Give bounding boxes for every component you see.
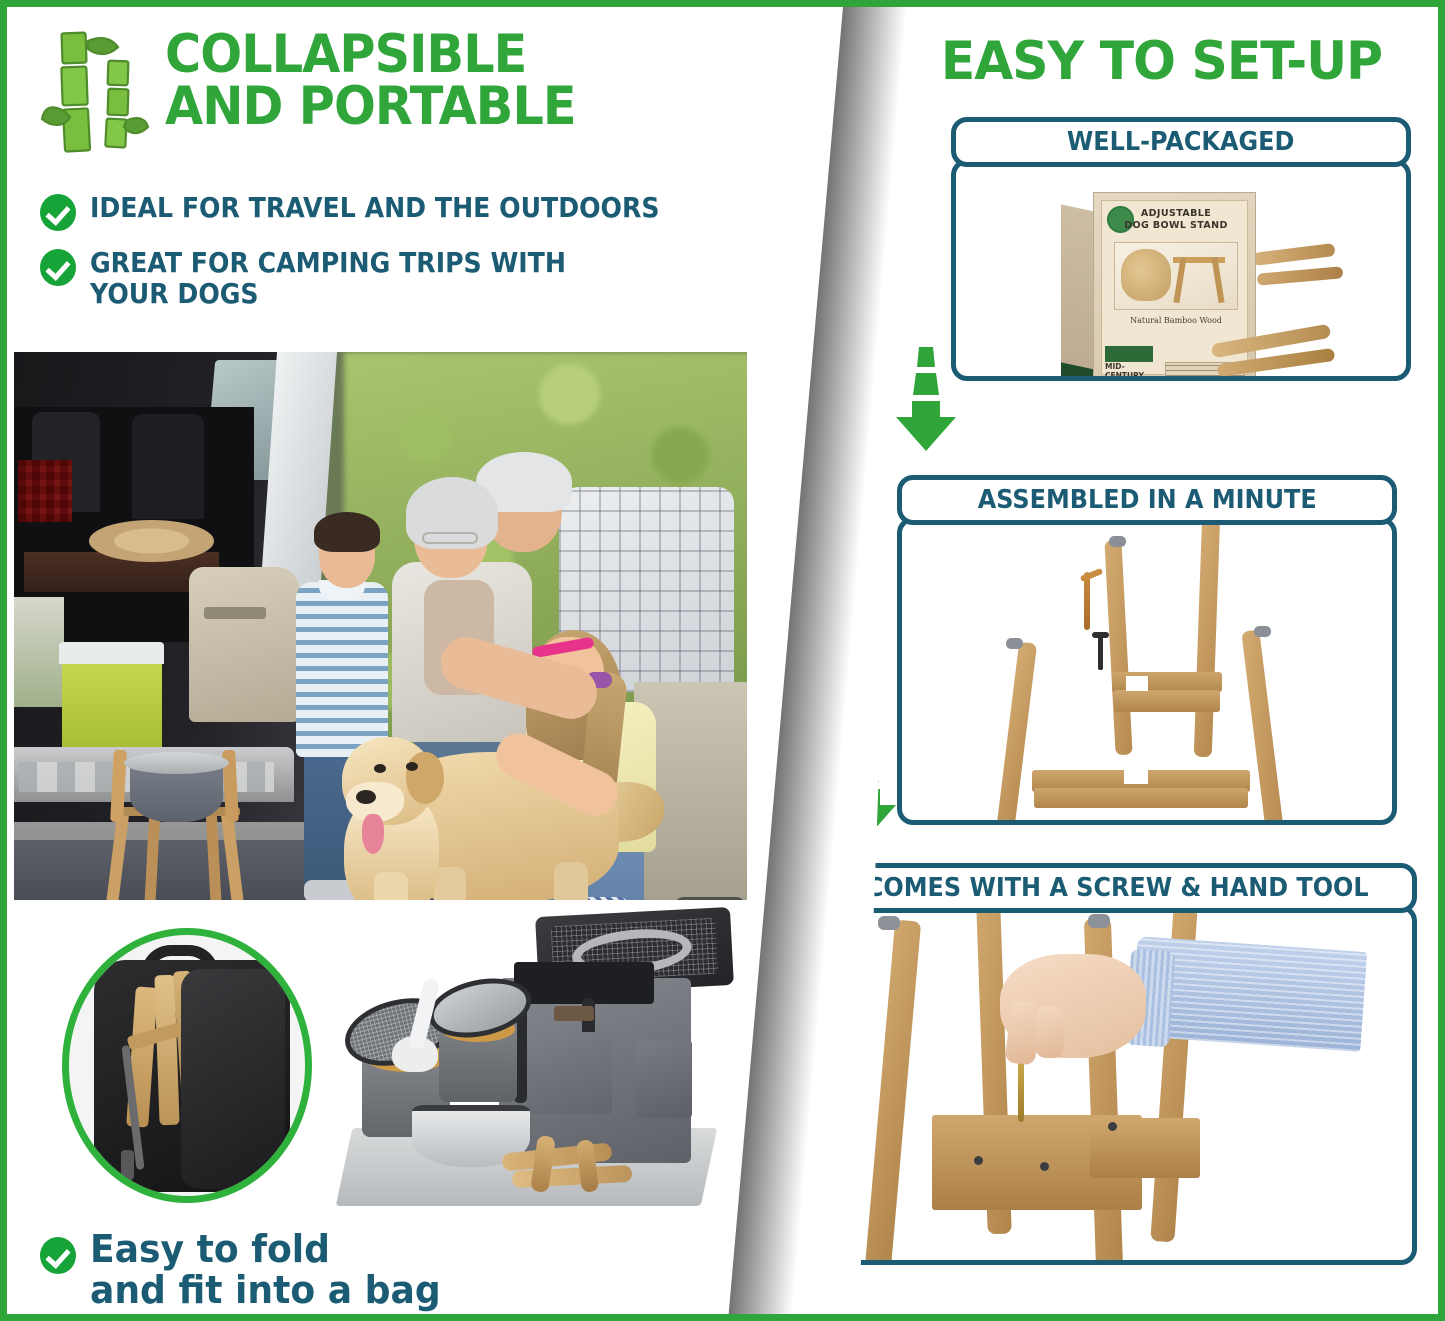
step-assembled: ASSEMBLED IN A MINUTE [897, 475, 1397, 825]
package-spine [1061, 204, 1095, 381]
package-subtitle: Natural Bamboo Wood [1109, 316, 1243, 325]
screw-head-icon [974, 1156, 983, 1165]
leg-cap [1109, 536, 1126, 547]
screw-icon [1098, 634, 1103, 670]
dog-leg [554, 862, 588, 900]
bamboo-part [1257, 266, 1344, 285]
dog-bowl-rim [124, 752, 229, 774]
dog-ear [406, 752, 444, 804]
assembly-illustration [902, 522, 1392, 820]
package-dog [1121, 249, 1171, 301]
dog-eye [374, 764, 386, 773]
zipper-pull [121, 1150, 134, 1180]
tote-front-pocket [527, 1032, 612, 1114]
step-image-frame: ADJUSTABLE DOG BOWL STAND Natural Bamboo… [951, 159, 1411, 381]
bamboo-icon [40, 29, 150, 179]
dog-tongue [362, 814, 384, 854]
bullet-label: IDEAL FOR TRAVEL AND THE OUTDOORS [90, 192, 660, 223]
dog-nose [356, 790, 376, 804]
step-header: WELL-PACKAGED [951, 117, 1411, 167]
step-label: WELL-PACKAGED [1067, 127, 1294, 157]
frame-leg [1104, 540, 1132, 756]
leg-cap [1006, 638, 1023, 649]
brand-tag [554, 1006, 594, 1021]
tote-side-pocket [636, 1040, 692, 1118]
right-panel: EASY TO SET-UP WELL-PACKAGED ADJUSTABLE … [859, 7, 1438, 1314]
list-item: IDEAL FOR TRAVEL AND THE OUTDOORS [40, 192, 800, 231]
infographic-root: COLLAPSIBLE AND PORTABLE IDEAL FOR TRAVE… [0, 0, 1445, 1321]
screw-head-icon [1108, 1122, 1117, 1131]
cooler-box [62, 660, 162, 752]
stand-leg [865, 920, 921, 1265]
screw-head [1092, 632, 1109, 638]
product-package: ADJUSTABLE DOG BOWL STAND Natural Bamboo… [1061, 186, 1321, 381]
list-item: GREAT FOR CAMPING TRIPS WITH YOUR DOGS [40, 247, 800, 310]
thumb [1035, 1006, 1065, 1059]
cooler-lid [59, 642, 164, 664]
leg-cap [878, 916, 900, 930]
notch-slot [1124, 768, 1148, 784]
headline-line-2: AND PORTABLE [165, 81, 686, 133]
eyeglasses [422, 532, 478, 544]
check-circle-icon [40, 194, 76, 231]
package-size-chip [1105, 346, 1153, 362]
bullet-label: GREAT FOR CAMPING TRIPS WITH YOUR DOGS [90, 247, 566, 310]
screw-head-icon [1040, 1162, 1049, 1171]
straw-hat [89, 520, 214, 562]
package-stand-leg [1173, 257, 1186, 303]
step-image-frame [897, 517, 1397, 825]
step-label: ASSEMBLED IN A MINUTE [978, 485, 1317, 515]
check-circle-icon [40, 249, 76, 286]
boy-striped-shirt [296, 582, 388, 757]
folded-blanket [14, 597, 64, 707]
notch-slot [1126, 676, 1148, 691]
travel-backpack [189, 567, 299, 722]
family-travel-photo [14, 352, 747, 900]
package-design-text: MID-CENTURY MODERN DESIGN FOR PET LOVERS [1105, 363, 1161, 381]
boy-hair [314, 512, 380, 552]
frame-leg [995, 642, 1037, 825]
leg-cap [1088, 914, 1110, 928]
dog-leg [374, 872, 408, 900]
leg-cap [1254, 626, 1271, 637]
stand-apron-side [1090, 1118, 1200, 1178]
package-stand-leg [1211, 257, 1224, 303]
hand-tool-illustration [822, 910, 1412, 1260]
left-panel: COLLAPSIBLE AND PORTABLE IDEAL FOR TRAVE… [7, 7, 887, 1314]
caption-label: Easy to fold and fit into a bag [90, 1229, 441, 1311]
van-seat [132, 414, 204, 519]
step-header: ASSEMBLED IN A MINUTE [897, 475, 1397, 525]
backpack-strap [204, 607, 266, 619]
frame-leg [1194, 517, 1221, 757]
frame-rail [1034, 788, 1248, 808]
dog-eye [406, 762, 418, 771]
step-screw-and-tool: COMES WITH A SCREW & HAND TOOL [817, 863, 1417, 1265]
plaid-blanket [18, 460, 72, 522]
backpack-flap [181, 969, 285, 1189]
travel-bag-photo [14, 900, 747, 1220]
feature-bullet-list: IDEAL FOR TRAVEL AND THE OUTDOORS GREAT … [40, 192, 800, 326]
package-title: ADJUSTABLE DOG BOWL STAND [1109, 208, 1243, 232]
check-circle-icon [40, 1237, 76, 1274]
bamboo-part [1253, 243, 1336, 266]
hex-key-bend [1080, 568, 1104, 582]
step-well-packaged: WELL-PACKAGED ADJUSTABLE DOG BOWL STAND [951, 117, 1411, 381]
step-label: COMES WITH A SCREW & HAND TOOL [866, 873, 1369, 903]
bottom-caption: Easy to fold and fit into a bag [40, 1229, 459, 1311]
down-arrow-icon [894, 345, 958, 455]
page-title: COLLAPSIBLE AND PORTABLE [165, 29, 686, 133]
frame-rail [1114, 690, 1220, 712]
step-header: COMES WITH A SCREW & HAND TOOL [817, 863, 1417, 913]
right-panel-title: EASY TO SET-UP [903, 31, 1421, 92]
package-product-photo [1114, 242, 1238, 310]
step-image-frame [817, 905, 1417, 1265]
backpack-circle-inset [62, 928, 312, 1203]
